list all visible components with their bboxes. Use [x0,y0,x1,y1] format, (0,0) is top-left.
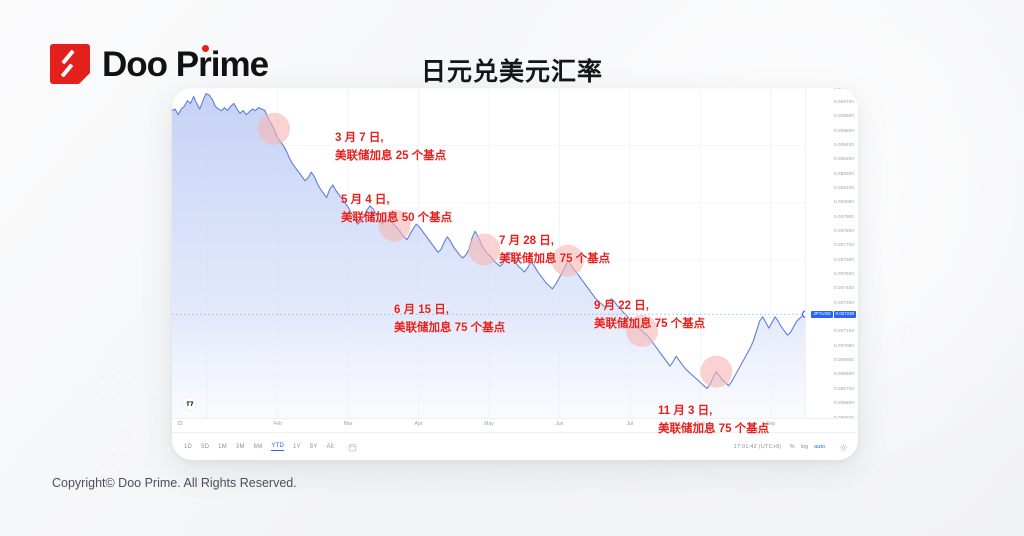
range-button-5d[interactable]: 5D [201,444,209,450]
clock-label: 17:01:42 (UTC+8) [734,444,782,450]
event-highlight-circle [258,113,290,145]
annotation-line-2: 美联储加息 75 个基点 [499,251,610,269]
price-axis-label: 0.008800 [834,88,854,90]
price-axis-label: 0.006800 [834,372,854,377]
time-axis-label: Jun [555,422,563,427]
scale-toggle-percent[interactable]: % [790,444,795,450]
price-axis-label: 0.007700 [834,243,854,248]
annotation-2022-05-04: 5 月 4 日, 美联储加息 50 个基点 [341,192,452,228]
annotation-2022-06-15: 6 月 15 日, 美联储加息 75 个基点 [394,302,505,338]
time-axis-label: 22 [177,422,183,427]
brand-accent-dot-icon [202,45,209,52]
annotation-2022-03-07: 3 月 7 日, 美联储加息 25 个基点 [335,130,446,166]
price-axis-label: 0.008100 [834,186,854,191]
price-axis-label: 0.006600 [834,401,854,406]
event-highlight-circle [700,356,732,388]
time-axis-label: Feb [273,422,282,427]
annotation-line-2: 美联储加息 75 个基点 [658,421,769,439]
price-axis-label: 0.007000 [834,344,854,349]
annotation-line-2: 美联储加息 25 个基点 [335,148,446,166]
price-axis-label: 0.008000 [834,200,854,205]
price-axis-label: 0.007100 [834,329,854,334]
annotation-2022-07-28: 7 月 28 日, 美联储加息 75 个基点 [499,233,610,269]
price-axis-label: 0.008200 [834,172,854,177]
price-axis-label: 0.006700 [834,387,854,392]
price-axis-label: 0.007600 [834,258,854,263]
annotation-line-1: 3 月 7 日, [335,132,384,144]
range-button-1d[interactable]: 1D [184,444,192,450]
annotation-2022-11-03: 11 月 3 日, 美联储加息 75 个基点 [658,403,769,439]
tradingview-logo-icon[interactable] [182,396,197,411]
price-axis-label: 0.007500 [834,272,854,277]
time-axis-label: Apr [415,422,423,427]
price-axis-label: 0.006900 [834,358,854,363]
annotation-line-1: 9 月 22 日, [594,300,649,312]
poster-canvas: Doo Prime 日元兑美元汇率 [0,0,1024,536]
annotation-line-1: 5 月 4 日, [341,194,390,206]
range-button-all[interactable]: All [327,444,334,450]
annotation-2022-09-22: 9 月 22 日, 美联储加息 75 个基点 [594,298,705,334]
annotation-line-2: 美联储加息 50 个基点 [341,210,452,228]
range-selector: 1D5D1M3M6MYTD1Y5YAll [184,443,334,451]
price-axis-label: 0.008700 [834,100,854,105]
range-button-5y[interactable]: 5Y [310,444,318,450]
scale-toggle-auto[interactable]: auto [814,444,825,450]
annotation-line-2: 美联储加息 75 个基点 [394,320,505,338]
toolbar-right-group: 17:01:42 (UTC+8) %logauto [734,443,848,452]
price-axis-label: 0.007900 [834,215,854,220]
event-highlight-circle [468,233,500,265]
scale-toggles[interactable]: %logauto [790,444,831,450]
page-title: 日元兑美元汇率 [0,52,1024,88]
price-axis[interactable]: JPYUSD 0.007239 0.0088000.0087000.008600… [805,88,858,418]
annotation-line-1: 11 月 3 日, [658,405,712,417]
range-button-1m[interactable]: 1M [218,444,227,450]
time-axis-label: Jul [627,422,633,427]
range-button-1y[interactable]: 1Y [293,444,301,450]
range-button-3m[interactable]: 3M [236,444,245,450]
price-axis-label: 0.008300 [834,157,854,162]
range-button-6m[interactable]: 6M [254,444,263,450]
price-axis-label: 0.008600 [834,114,854,119]
annotation-line-2: 美联储加息 75 个基点 [594,316,705,334]
price-axis-label: 0.008400 [834,143,854,148]
time-axis-label: May [484,422,493,427]
gear-icon[interactable] [839,443,848,452]
price-badge-symbol: JPYUSD [811,311,832,318]
last-price-badge: JPYUSD 0.007239 [811,310,856,319]
price-badge-value: 0.007239 [834,311,856,318]
copyright-footer: Copyright© Doo Prime. All Rights Reserve… [52,476,297,490]
calendar-icon[interactable] [348,443,357,452]
range-button-ytd[interactable]: YTD [271,443,284,451]
annotation-line-1: 6 月 15 日, [394,304,449,316]
annotation-line-1: 7 月 28 日, [499,235,554,247]
price-axis-label: 0.007400 [834,286,854,291]
time-axis-label: Mar [344,422,353,427]
price-axis-label: 0.007300 [834,301,854,306]
price-axis-label: 0.008500 [834,129,854,134]
price-axis-label: 0.007800 [834,229,854,234]
scale-toggle-log[interactable]: log [801,444,808,450]
